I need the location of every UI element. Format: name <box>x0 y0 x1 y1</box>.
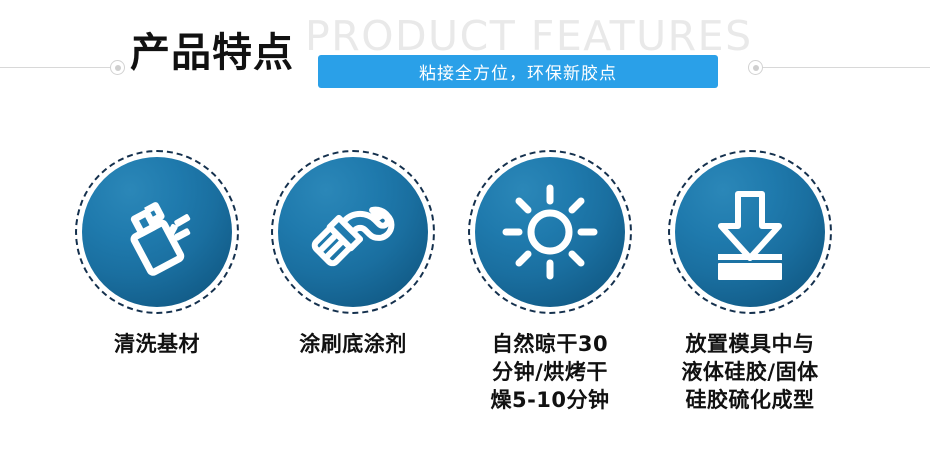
press-into-mold-icon <box>700 182 800 282</box>
feature-item-3: 自然晾干30 分钟/烘烤干 燥5-10分钟 <box>450 150 650 415</box>
feature-list: 清洗基材 涂刷底涂剂 <box>0 150 930 450</box>
feature-item-1: 清洗基材 <box>57 150 257 359</box>
feature-label-1: 清洗基材 <box>57 331 257 359</box>
header-rule-right <box>762 67 930 68</box>
feature-label-3: 自然晾干30 分钟/烘烤干 燥5-10分钟 <box>450 331 650 415</box>
spray-bottle-icon <box>109 184 205 280</box>
paint-brush-icon <box>303 182 403 282</box>
icon-circle-1 <box>82 157 232 307</box>
icon-circle-3 <box>475 157 625 307</box>
slogan-badge: 粘接全方位，环保新胶点 <box>318 55 718 88</box>
icon-circle-2 <box>278 157 428 307</box>
product-features-banner: PRODUCT FEATURES 产品特点 粘接全方位，环保新胶点 <box>0 0 930 455</box>
icon-circle-4 <box>675 157 825 307</box>
page-title: 产品特点 <box>130 33 294 73</box>
feature-icon-badge-1 <box>75 150 239 314</box>
header-rule-node-right-icon <box>748 60 763 75</box>
feature-label-4: 放置模具中与 液体硅胶/固体 硅胶硫化成型 <box>650 331 850 415</box>
feature-label-2: 涂刷底涂剂 <box>253 331 453 359</box>
watermark-text: PRODUCT FEATURES <box>305 12 753 60</box>
feature-icon-badge-3 <box>468 150 632 314</box>
section-header: PRODUCT FEATURES 产品特点 粘接全方位，环保新胶点 <box>0 0 930 120</box>
sun-drying-icon <box>500 182 600 282</box>
feature-item-2: 涂刷底涂剂 <box>253 150 453 359</box>
feature-item-4: 放置模具中与 液体硅胶/固体 硅胶硫化成型 <box>650 150 850 415</box>
feature-icon-badge-4 <box>668 150 832 314</box>
feature-icon-badge-2 <box>271 150 435 314</box>
header-rule-node-left-icon <box>110 60 125 75</box>
header-rule-left <box>0 67 118 68</box>
